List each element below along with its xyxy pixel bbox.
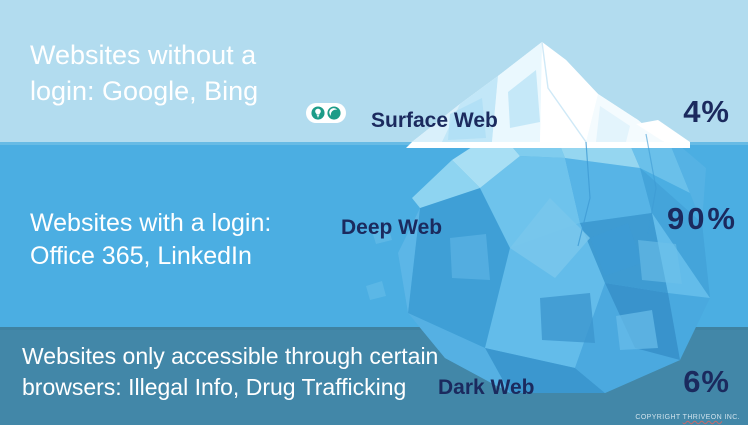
lightbulb-icon: [311, 106, 325, 120]
dark-web-description: Websites only accessible through certain…: [22, 341, 452, 402]
surface-web-label: Surface Web: [371, 109, 498, 133]
copyright-notice: COPYRIGHT THRIVEON INC.: [635, 414, 740, 421]
deep-web-description-line2: Office 365, LinkedIn: [30, 240, 350, 273]
copyright-brand: THRIVEON: [683, 414, 722, 421]
surface-web-description-line2: login: Google, Bing: [30, 74, 330, 110]
dark-web-percent: 6%: [683, 364, 730, 400]
surface-web-badge: [306, 103, 346, 123]
deep-web-label: Deep Web: [341, 216, 442, 240]
infographic-canvas: Websites without a login: Google, Bing S…: [0, 0, 748, 425]
deep-web-percent: 90%: [667, 201, 738, 237]
deep-web-description: Websites with a login: Office 365, Linke…: [30, 207, 350, 274]
dark-web-label: Dark Web: [438, 376, 534, 400]
crescent-icon: [327, 106, 341, 120]
dark-web-description-line2: browsers: Illegal Info, Drug Trafficking: [22, 372, 452, 403]
surface-web-percent: 4%: [683, 94, 730, 130]
deep-web-description-line1: Websites with a login:: [30, 209, 271, 237]
dark-web-description-line1: Websites only accessible through certain: [22, 343, 438, 369]
copyright-prefix: COPYRIGHT: [635, 414, 682, 421]
surface-web-description: Websites without a login: Google, Bing: [30, 38, 330, 110]
surface-web-description-line1: Websites without a: [30, 40, 256, 70]
copyright-suffix: INC.: [722, 414, 740, 421]
